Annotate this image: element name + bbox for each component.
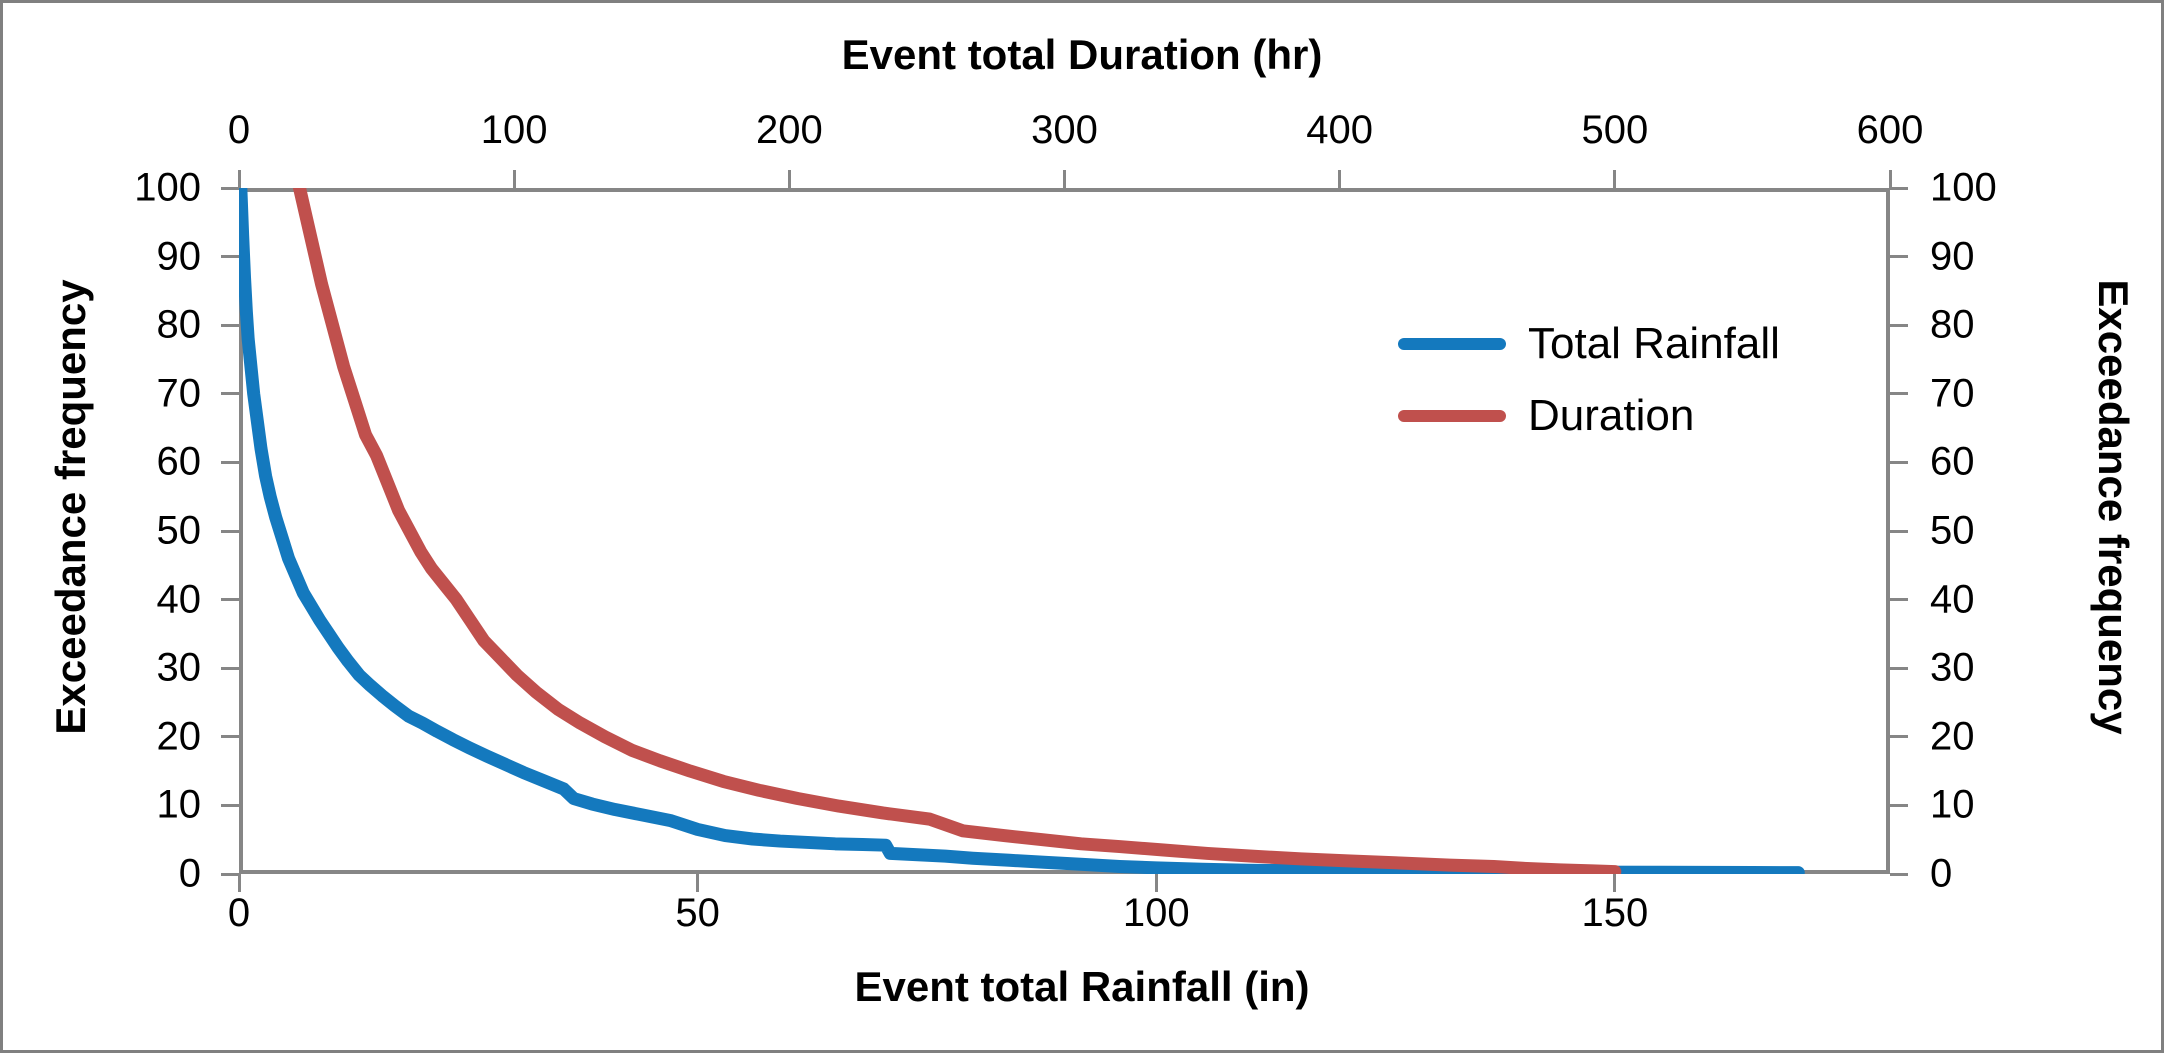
tick-mark-left (221, 735, 239, 738)
tick-mark-bottom (1613, 874, 1616, 892)
tick-mark-left (221, 667, 239, 670)
tick-label-top: 100 (481, 108, 548, 153)
tick-mark-right (1890, 324, 1908, 327)
tick-label-left: 100 (81, 166, 201, 211)
legend-item[interactable]: Total Rainfall (1398, 308, 1780, 380)
tick-mark-right (1890, 735, 1908, 738)
tick-mark-right (1890, 187, 1908, 190)
tick-mark-right (1890, 461, 1908, 464)
tick-label-left: 90 (81, 234, 201, 279)
tick-label-left: 40 (81, 577, 201, 622)
legend-swatch-icon (1398, 410, 1506, 422)
tick-label-top: 0 (228, 108, 250, 153)
tick-label-top: 200 (756, 108, 823, 153)
tick-label-bottom: 0 (228, 891, 250, 936)
tick-label-left: 0 (81, 852, 201, 897)
series-line-total-rainfall (241, 188, 1798, 873)
tick-label-left: 30 (81, 646, 201, 691)
tick-label-right: 80 (1930, 303, 2050, 348)
tick-label-bottom: 150 (1581, 891, 1648, 936)
tick-mark-bottom (1155, 874, 1158, 892)
tick-label-top: 500 (1581, 108, 1648, 153)
legend-label: Duration (1528, 391, 1694, 441)
tick-mark-right (1890, 530, 1908, 533)
tick-label-right: 30 (1930, 646, 2050, 691)
tick-label-left: 70 (81, 371, 201, 416)
tick-mark-left (221, 392, 239, 395)
tick-mark-left (221, 598, 239, 601)
tick-mark-left (221, 804, 239, 807)
tick-label-left: 20 (81, 714, 201, 759)
legend-label: Total Rainfall (1528, 319, 1780, 369)
data-curves (239, 188, 1890, 874)
tick-mark-bottom (696, 874, 699, 892)
tick-mark-left (221, 187, 239, 190)
tick-mark-left (221, 255, 239, 258)
tick-mark-left (221, 461, 239, 464)
tick-label-right: 100 (1930, 166, 2050, 211)
tick-mark-top (513, 170, 516, 188)
series-line-duration (300, 188, 1615, 872)
tick-label-right: 20 (1930, 714, 2050, 759)
tick-mark-top (1889, 170, 1892, 188)
tick-mark-right (1890, 667, 1908, 670)
tick-mark-top (1613, 170, 1616, 188)
tick-mark-left (221, 873, 239, 876)
tick-mark-top (1338, 170, 1341, 188)
tick-mark-left (221, 530, 239, 533)
tick-mark-top (238, 170, 241, 188)
tick-mark-right (1890, 598, 1908, 601)
tick-mark-right (1890, 255, 1908, 258)
chart-legend: Total RainfallDuration (1398, 308, 1780, 452)
tick-label-left: 10 (81, 783, 201, 828)
tick-label-top: 600 (1857, 108, 1924, 153)
tick-mark-bottom (238, 874, 241, 892)
tick-label-top: 300 (1031, 108, 1098, 153)
tick-mark-right (1890, 392, 1908, 395)
tick-label-right: 40 (1930, 577, 2050, 622)
tick-label-left: 80 (81, 303, 201, 348)
tick-label-top: 400 (1306, 108, 1373, 153)
tick-mark-top (788, 170, 791, 188)
tick-label-right: 90 (1930, 234, 2050, 279)
chart-figure: Event total Duration (hr) Event total Ra… (0, 0, 2164, 1053)
tick-label-right: 10 (1930, 783, 2050, 828)
tick-mark-right (1890, 804, 1908, 807)
tick-label-bottom: 50 (675, 891, 720, 936)
tick-mark-right (1890, 873, 1908, 876)
tick-label-left: 50 (81, 509, 201, 554)
tick-label-left: 60 (81, 440, 201, 485)
legend-swatch-icon (1398, 338, 1506, 350)
tick-label-right: 70 (1930, 371, 2050, 416)
tick-mark-left (221, 324, 239, 327)
tick-label-right: 0 (1930, 852, 2050, 897)
tick-label-right: 60 (1930, 440, 2050, 485)
tick-label-bottom: 100 (1123, 891, 1190, 936)
tick-label-right: 50 (1930, 509, 2050, 554)
tick-mark-top (1063, 170, 1066, 188)
legend-item[interactable]: Duration (1398, 380, 1780, 452)
